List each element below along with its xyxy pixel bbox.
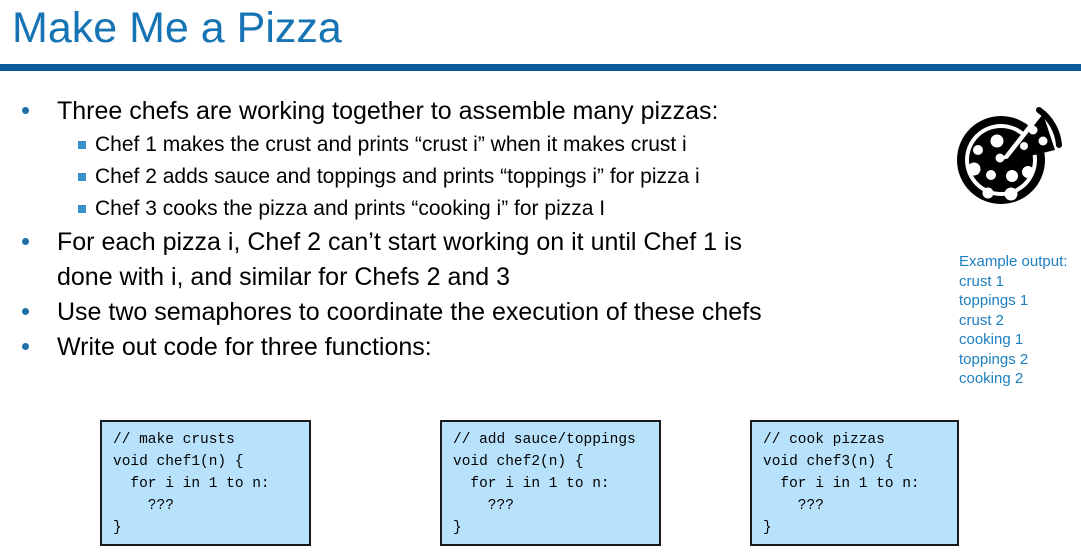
list-item: Three chefs are working together to asse… xyxy=(0,94,950,129)
bullet-dot-icon xyxy=(22,107,29,114)
example-output-line: toppings 2 xyxy=(959,350,1081,370)
example-output-line: crust 2 xyxy=(959,311,1081,331)
list-item: For each pizza i, Chef 2 can’t start wor… xyxy=(0,225,950,295)
code-line: } xyxy=(763,517,957,539)
list-item: Chef 2 adds sauce and toppings and print… xyxy=(0,161,950,193)
title-divider xyxy=(0,64,1081,71)
code-line: ??? xyxy=(453,495,659,517)
example-output-line: cooking 1 xyxy=(959,330,1081,350)
list-item: Chef 3 cooks the pizza and prints “cooki… xyxy=(0,193,950,225)
list-item: Chef 1 makes the crust and prints “crust… xyxy=(0,129,950,161)
bullet-square-icon xyxy=(78,141,86,149)
page-title: Make Me a Pizza xyxy=(12,2,342,54)
code-line: } xyxy=(453,517,659,539)
code-line: void chef1(n) { xyxy=(113,451,309,473)
bullet-dot-icon xyxy=(22,343,29,350)
list-item-label: Three chefs are working together to asse… xyxy=(57,94,950,129)
code-line: // make crusts xyxy=(113,429,309,451)
code-line: for i in 1 to n: xyxy=(453,473,659,495)
list-item-label: Write out code for three functions: xyxy=(57,330,950,365)
code-line: void chef3(n) { xyxy=(763,451,957,473)
example-output-line: cooking 2 xyxy=(959,369,1081,389)
bullet-dot-icon xyxy=(22,238,29,245)
code-line: for i in 1 to n: xyxy=(113,473,309,495)
code-block-chef1: // make crusts void chef1(n) { for i in … xyxy=(100,420,311,546)
code-line: // add sauce/toppings xyxy=(453,429,659,451)
code-block-chef2: // add sauce/toppings void chef2(n) { fo… xyxy=(440,420,661,546)
list-item-label: Chef 2 adds sauce and toppings and print… xyxy=(95,161,950,193)
example-output-line: toppings 1 xyxy=(959,291,1081,311)
example-output-block: Example output: crust 1 toppings 1 crust… xyxy=(959,252,1081,389)
pizza-slice-icon xyxy=(955,100,1065,220)
example-output-line: crust 1 xyxy=(959,272,1081,292)
bullet-list: Three chefs are working together to asse… xyxy=(0,94,950,365)
code-line: ??? xyxy=(113,495,309,517)
list-item: Use two semaphores to coordinate the exe… xyxy=(0,295,950,330)
list-item-label: Chef 1 makes the crust and prints “crust… xyxy=(95,129,950,161)
list-item: Write out code for three functions: xyxy=(0,330,950,365)
code-line: ??? xyxy=(763,495,957,517)
code-line: // cook pizzas xyxy=(763,429,957,451)
list-item-label-continued: done with i, and similar for Chefs 2 and… xyxy=(57,263,510,291)
code-line: for i in 1 to n: xyxy=(763,473,957,495)
code-block-chef3: // cook pizzas void chef3(n) { for i in … xyxy=(750,420,959,546)
example-output-heading: Example output: xyxy=(959,252,1081,272)
bullet-square-icon xyxy=(78,173,86,181)
bullet-square-icon xyxy=(78,205,86,213)
list-item-label: Chef 3 cooks the pizza and prints “cooki… xyxy=(95,193,950,225)
list-item-label: For each pizza i, Chef 2 can’t start wor… xyxy=(57,225,950,260)
list-item-label: Use two semaphores to coordinate the exe… xyxy=(57,295,950,330)
code-line: void chef2(n) { xyxy=(453,451,659,473)
bullet-dot-icon xyxy=(22,308,29,315)
code-line: } xyxy=(113,517,309,539)
